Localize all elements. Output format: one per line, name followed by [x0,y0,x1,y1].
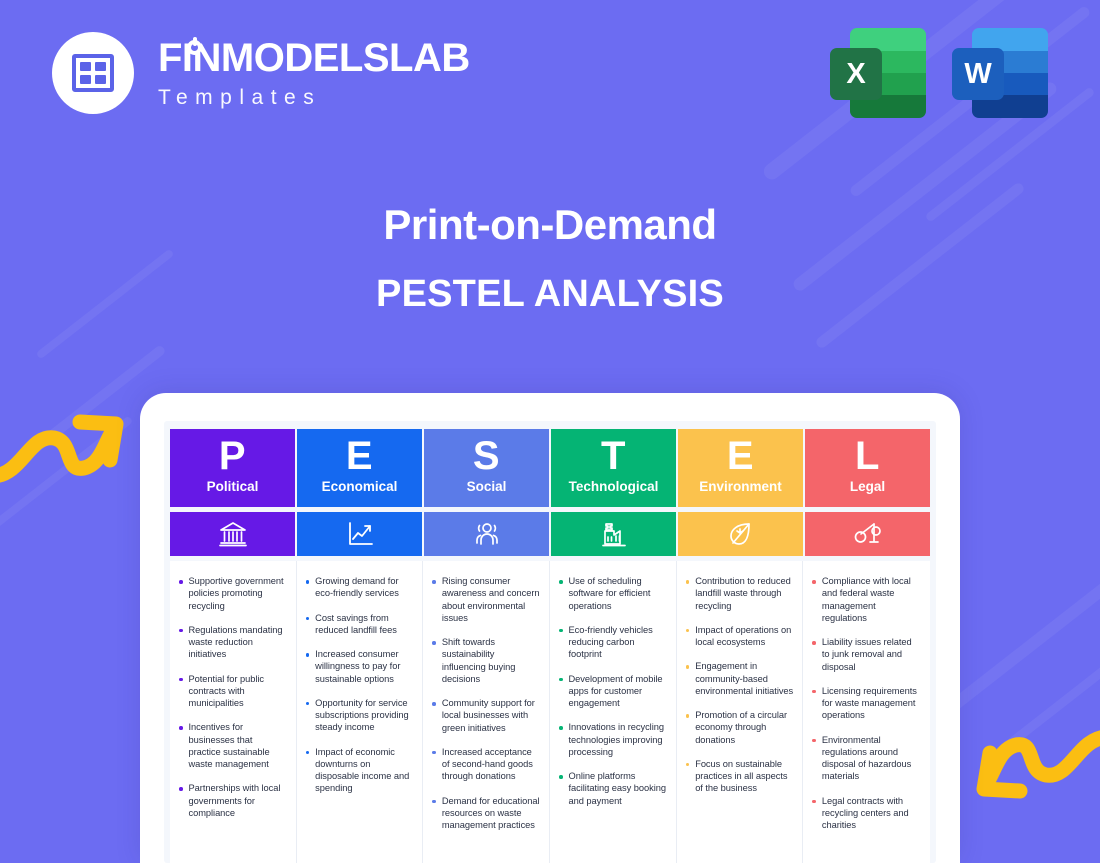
bullet-text: Use of scheduling software for efficient… [569,575,667,612]
factory-icon [551,512,676,556]
bullet-list-political: Supportive government policies promoting… [177,575,287,819]
bullet-item: Rising consumer awareness and concern ab… [430,575,540,624]
bullet-dot-icon [432,580,436,584]
bullet-dot-icon [306,702,310,706]
bullet-dot-icon [559,726,563,730]
brand-name: FINMODELSLAB [158,38,470,78]
bullet-text: Shift towards sustainability influencing… [442,636,540,685]
bullet-text: Cost savings from reduced landfill fees [315,612,413,637]
bullet-list-legal: Compliance with local and federal waste … [810,575,921,832]
bullet-item: Demand for educational resources on wast… [430,795,540,832]
column-label: Technological [569,480,659,494]
bullet-text: Growing demand for eco-friendly services [315,575,413,600]
bullet-item: Development of mobile apps for customer … [557,673,667,710]
bullet-item: Incentives for businesses that practice … [177,721,287,770]
bullet-item: Community support for local businesses w… [430,697,540,734]
bullet-dot-icon [179,629,183,633]
bullet-item: Promotion of a circular economy through … [684,709,794,746]
pestel-column-social[interactable]: S Social [424,429,549,507]
bullet-item: Increased acceptance of second-hand good… [430,746,540,783]
scales-of-justice-icon [805,512,930,556]
bullet-item: Eco-friendly vehicles reducing carbon fo… [557,624,667,661]
bullet-dot-icon [306,580,310,584]
bullet-text: Development of mobile apps for customer … [569,673,667,710]
pestel-column-political[interactable]: P Political [170,429,295,507]
bullet-item: Compliance with local and federal waste … [810,575,921,624]
bullet-item: Potential for public contracts with muni… [177,673,287,710]
bullet-dot-icon [179,678,183,682]
leaf-icon [678,512,803,556]
bullet-item: Online platforms facilitating easy booki… [557,770,667,807]
bullet-dot-icon [559,775,563,779]
word-icon[interactable]: W [952,28,1048,120]
pestel-column-technological[interactable]: T Technological [551,429,676,507]
bullet-item: Opportunity for service subscriptions pr… [304,697,414,734]
bullet-dot-icon [559,678,563,682]
bullet-text: Compliance with local and federal waste … [822,575,921,624]
bullet-text: Rising consumer awareness and concern ab… [442,575,540,624]
bullet-list-environment: Contribution to reduced landfill waste t… [684,575,794,795]
bullet-text: Environmental regulations around disposa… [822,734,921,783]
bullet-dot-icon [812,690,816,694]
column-letter: L [855,437,880,475]
bullet-dot-icon [559,580,563,584]
bullet-text: Focus on sustainable practices in all as… [695,758,793,795]
bullet-item: Contribution to reduced landfill waste t… [684,575,794,612]
bullet-dot-icon [306,751,310,755]
page-title: Print-on-Demand [0,200,1100,250]
bullet-text: Online platforms facilitating easy booki… [569,770,667,807]
bullet-item: Impact of economic downturns on disposab… [304,746,414,795]
page-subtitle: PESTEL ANALYSIS [0,272,1100,317]
bullet-dot-icon [686,665,690,669]
pestel-column-economical[interactable]: E Economical [297,429,422,507]
bullet-dot-icon [686,763,690,767]
squiggle-arrow-down-left-icon [973,720,1100,820]
column-label: Social [467,480,507,494]
brand-logo[interactable]: FINMODELSLAB Templates [52,32,470,114]
pestel-table: P Political E Economical S Social [170,429,930,863]
tablet-screen: P Political E Economical S Social [164,421,936,863]
bank-building-icon [170,512,295,556]
bullet-list-economical: Growing demand for eco-friendly services… [304,575,414,795]
grid-logo-icon [52,32,134,114]
word-icon-letter: W [952,48,1004,100]
bullet-dot-icon [179,580,183,584]
column-label: Economical [322,480,398,494]
bullet-text: Impact of economic downturns on disposab… [315,746,413,795]
bullet-text: Innovations in recycling technologies im… [569,721,667,758]
bullet-dot-icon [306,653,310,657]
column-letter: T [601,437,626,475]
column-letter: E [727,437,754,475]
bullet-item: Partnerships with local governments for … [177,782,287,819]
bullet-list-social: Rising consumer awareness and concern ab… [430,575,540,832]
column-letter: P [219,437,246,475]
title-block: Print-on-Demand PESTEL ANALYSIS [0,200,1100,316]
bullet-dot-icon [432,702,436,706]
bullet-dot-icon [559,629,563,633]
bullet-item: Use of scheduling software for efficient… [557,575,667,612]
bullet-text: Contribution to reduced landfill waste t… [695,575,793,612]
bullet-text: Licensing requirements for waste managem… [822,685,921,722]
bullet-text: Partnerships with local governments for … [189,782,287,819]
bullet-text: Promotion of a circular economy through … [695,709,793,746]
bullet-item: Regulations mandating waste reduction in… [177,624,287,661]
bullet-text: Engagement in community-based environmen… [695,660,793,697]
bullet-dot-icon [306,617,310,621]
bullet-text: Opportunity for service subscriptions pr… [315,697,413,734]
bullet-dot-icon [432,641,436,645]
bullet-item: Shift towards sustainability influencing… [430,636,540,685]
column-label: Environment [699,480,782,494]
bullet-item: Supportive government policies promoting… [177,575,287,612]
pestel-column-legal[interactable]: L Legal [805,429,930,507]
squiggle-arrow-up-right-icon [0,398,127,498]
bullet-text: Community support for local businesses w… [442,697,540,734]
bullet-dot-icon [812,641,816,645]
bullet-text: Regulations mandating waste reduction in… [189,624,287,661]
pestel-header-row: P Political E Economical S Social [170,429,930,507]
pestel-body-row: Supportive government policies promoting… [170,561,930,863]
bullet-dot-icon [179,787,183,791]
people-group-icon [424,512,549,556]
bullet-text: Increased acceptance of second-hand good… [442,746,540,783]
bullet-dot-icon [686,714,690,718]
bullet-text: Liability issues related to junk removal… [822,636,921,673]
bullet-dot-icon [432,751,436,755]
bullet-text: Supportive government policies promoting… [189,575,287,612]
page-header: FINMODELSLAB Templates X W [0,0,1100,150]
tablet-frame: P Political E Economical S Social [140,393,960,863]
bullet-item: Impact of operations on local ecosystems [684,624,794,649]
brand-tagline: Templates [158,87,470,108]
bullet-text: Legal contracts with recycling centers a… [822,795,921,832]
bullet-item: Liability issues related to junk removal… [810,636,921,673]
bullet-item: Cost savings from reduced landfill fees [304,612,414,637]
format-icons: X W [830,28,1048,120]
bullet-dot-icon [812,800,816,804]
bullet-item: Engagement in community-based environmen… [684,660,794,697]
bullet-item: Growing demand for eco-friendly services [304,575,414,600]
bullet-item: Increased consumer willingness to pay fo… [304,648,414,685]
bullet-item: Legal contracts with recycling centers a… [810,795,921,832]
column-letter: E [346,437,373,475]
pestel-icon-row [170,512,930,556]
bullet-dot-icon [686,580,690,584]
bullet-text: Increased consumer willingness to pay fo… [315,648,413,685]
brand-name-accent-dot [187,40,202,55]
bullet-item: Environmental regulations around disposa… [810,734,921,783]
bullet-text: Potential for public contracts with muni… [189,673,287,710]
bullet-dot-icon [812,739,816,743]
bullet-item: Focus on sustainable practices in all as… [684,758,794,795]
column-letter: S [473,437,500,475]
bullet-dot-icon [179,726,183,730]
bullet-item: Licensing requirements for waste managem… [810,685,921,722]
bullet-dot-icon [686,629,690,633]
bullet-dot-icon [432,800,436,804]
pestel-column-environment[interactable]: E Environment [678,429,803,507]
excel-icon[interactable]: X [830,28,926,120]
bullet-list-technological: Use of scheduling software for efficient… [557,575,667,807]
column-label: Legal [850,480,885,494]
excel-icon-letter: X [830,48,882,100]
bullet-text: Impact of operations on local ecosystems [695,624,793,649]
column-label: Political [207,480,259,494]
bullet-text: Demand for educational resources on wast… [442,795,540,832]
bullet-dot-icon [812,580,816,584]
line-chart-icon [297,512,422,556]
bullet-text: Incentives for businesses that practice … [189,721,287,770]
bullet-item: Innovations in recycling technologies im… [557,721,667,758]
bullet-text: Eco-friendly vehicles reducing carbon fo… [569,624,667,661]
